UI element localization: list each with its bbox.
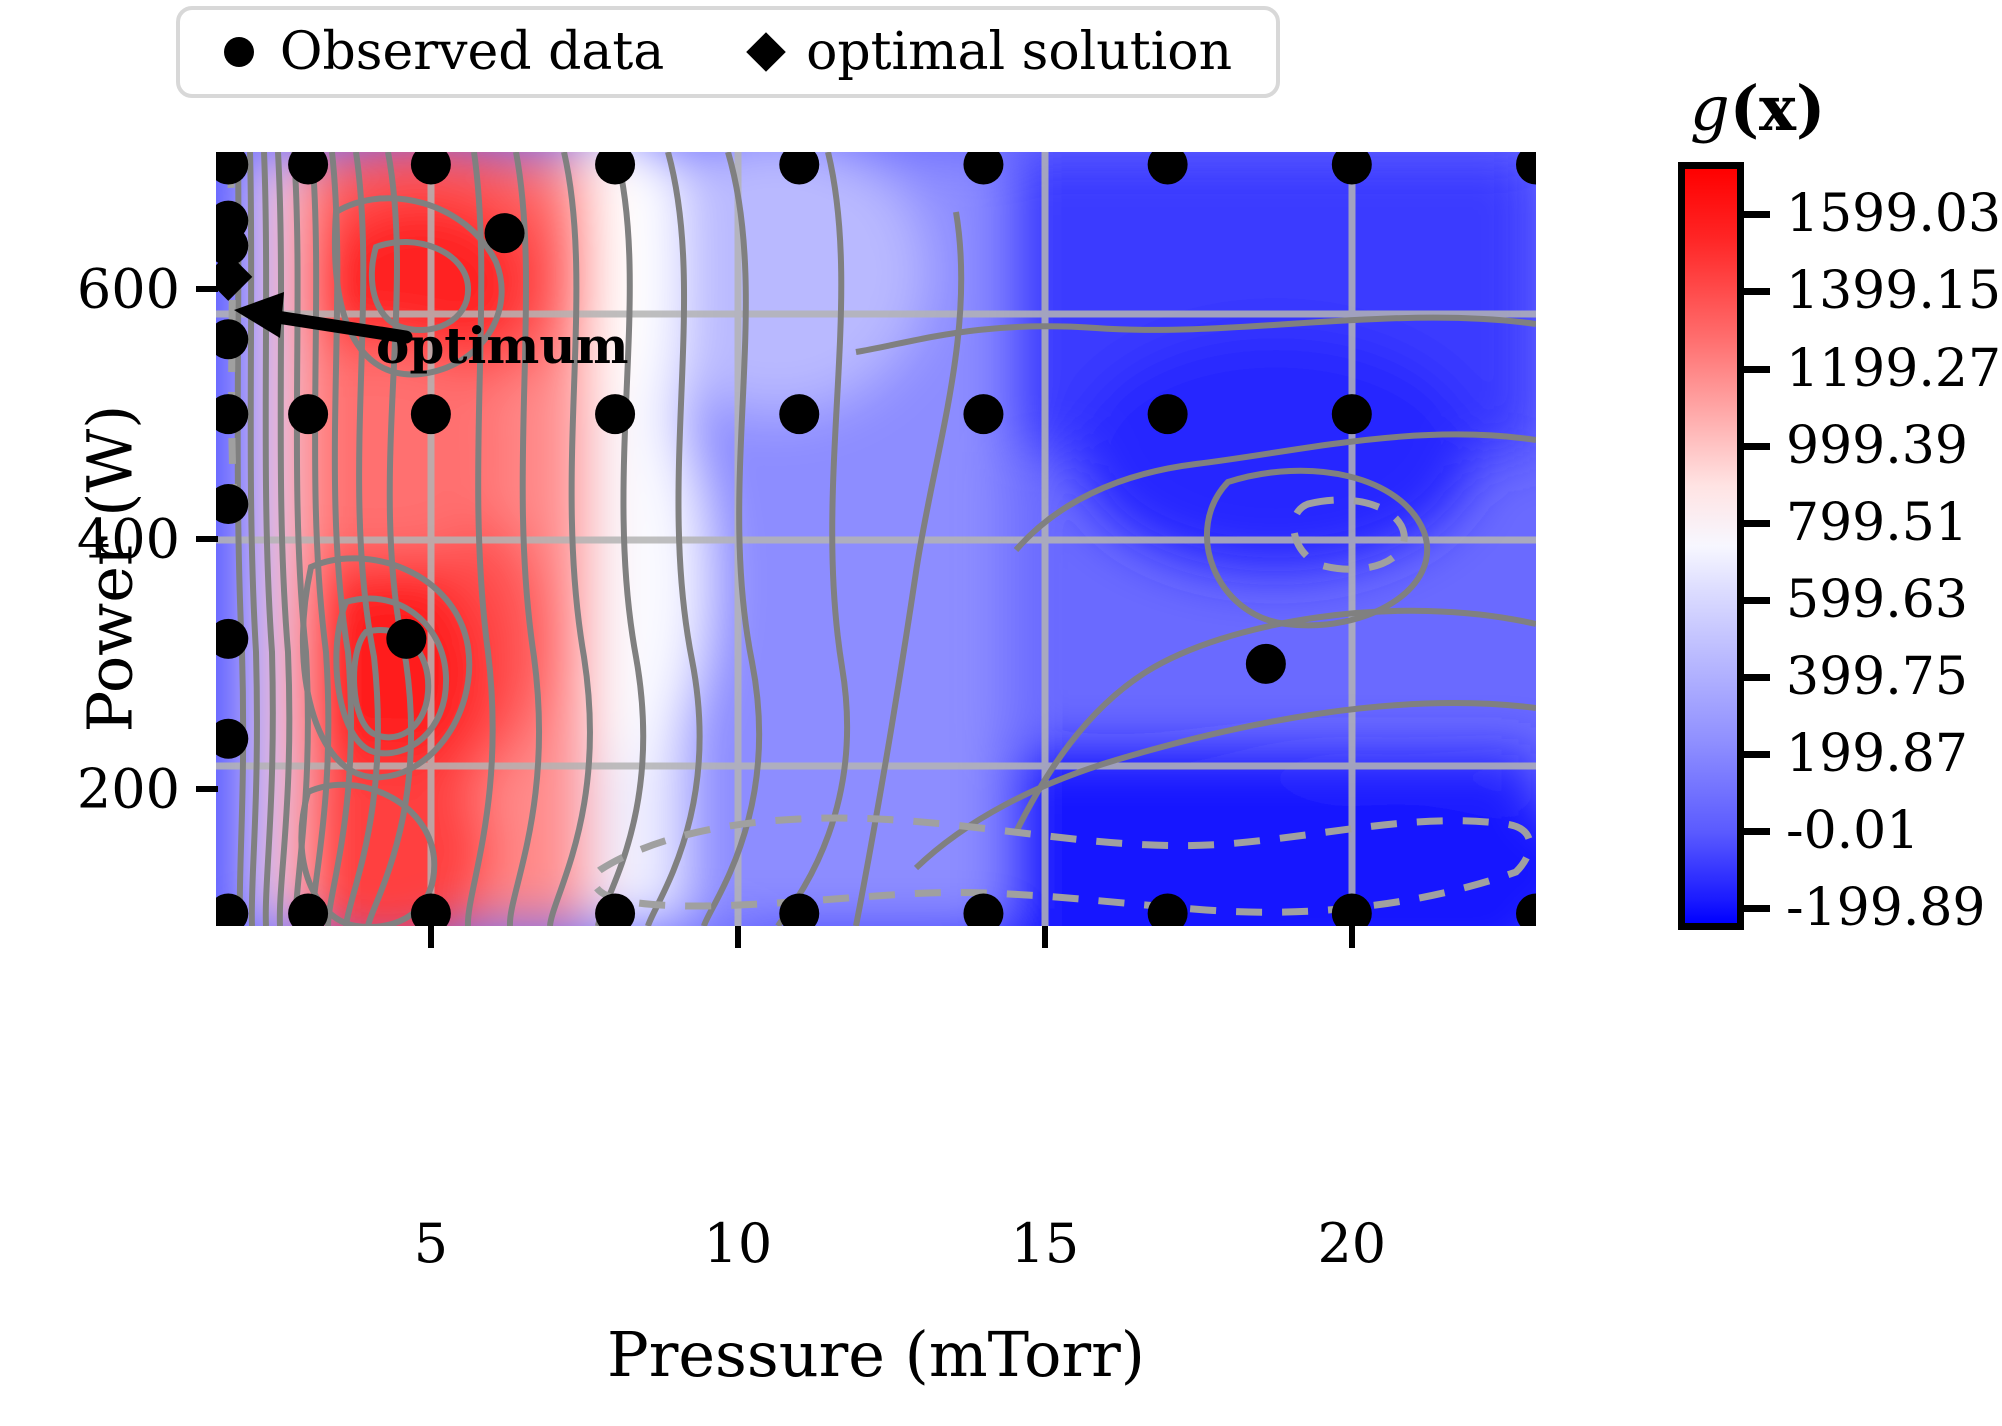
colorbar-tick-label: 199.87	[1786, 724, 1968, 784]
observed-data-point	[1148, 394, 1188, 434]
colorbar-tick-mark	[1744, 520, 1770, 527]
x-axis-tick-mark	[428, 926, 434, 948]
colorbar	[1678, 162, 1744, 930]
legend-entry-observed-data: Observed data	[224, 26, 664, 78]
observed-data-point	[595, 394, 635, 434]
observed-data-point	[963, 394, 1003, 434]
legend-label-optimal-solution: optimal solution	[806, 26, 1232, 78]
legend-label-observed-data: Observed data	[280, 26, 664, 78]
colorbar-tick-label: -0.01	[1786, 801, 1919, 861]
x-axis-tick-mark	[1349, 926, 1355, 948]
observed-data-point	[288, 394, 328, 434]
plot-legend: Observed data optimal solution	[176, 6, 1280, 98]
colorbar-tick-mark	[1744, 751, 1770, 758]
circle-marker-icon	[224, 37, 254, 67]
colorbar-tick-mark	[1744, 597, 1770, 604]
colorbar-tick-label: 1399.15	[1786, 261, 2001, 321]
contour-plot-svg	[216, 152, 1536, 926]
observed-data-point	[411, 394, 451, 434]
observed-data-point	[1246, 644, 1286, 684]
observed-data-point	[1332, 394, 1372, 434]
contour-plot-area	[216, 152, 1536, 926]
colorbar-tick-label: 399.75	[1786, 647, 1968, 707]
colorbar-tick-mark	[1744, 905, 1770, 912]
colorbar-tick-mark	[1744, 674, 1770, 681]
x-axis-tick-mark	[1042, 926, 1048, 948]
y-axis-tick-mark	[196, 286, 218, 292]
colorbar-tick-label: -199.89	[1786, 878, 1986, 938]
observed-data-point	[779, 394, 819, 434]
x-axis-tick-label: 10	[678, 1212, 798, 1275]
colorbar-title: g(x)	[1690, 72, 1825, 145]
colorbar-title-g: g	[1690, 72, 1730, 145]
colorbar-tick-label: 799.51	[1786, 493, 1968, 553]
colorbar-tick-mark	[1744, 366, 1770, 373]
observed-data-point	[386, 619, 426, 659]
colorbar-tick-label: 999.39	[1786, 416, 1968, 476]
y-axis-tick-mark	[196, 786, 218, 792]
x-axis-tick-mark	[735, 926, 741, 948]
diamond-marker-icon	[746, 32, 786, 72]
x-axis-tick-label: 15	[985, 1212, 1105, 1275]
x-axis-label: Pressure (mTorr)	[216, 1318, 1536, 1391]
observed-data-point	[485, 213, 525, 253]
legend-entry-optimal-solution: optimal solution	[752, 26, 1232, 78]
x-axis-tick-label: 5	[371, 1212, 491, 1275]
colorbar-gradient	[1678, 162, 1744, 930]
colorbar-tick-mark	[1744, 288, 1770, 295]
colorbar-tick-mark	[1744, 443, 1770, 450]
y-axis-label: Power (W)	[74, 219, 147, 919]
colorbar-tick-label: 1599.03	[1786, 184, 2001, 244]
colorbar-tick-label: 1199.27	[1786, 339, 2001, 399]
optimum-annotation-label: optimum	[376, 316, 629, 375]
colorbar-tick-mark	[1744, 211, 1770, 218]
colorbar-title-arg: (x)	[1730, 72, 1826, 145]
y-axis-tick-mark	[196, 536, 218, 542]
colorbar-tick-mark	[1744, 828, 1770, 835]
x-axis-tick-label: 20	[1292, 1212, 1412, 1275]
colorbar-tick-label: 599.63	[1786, 570, 1968, 630]
